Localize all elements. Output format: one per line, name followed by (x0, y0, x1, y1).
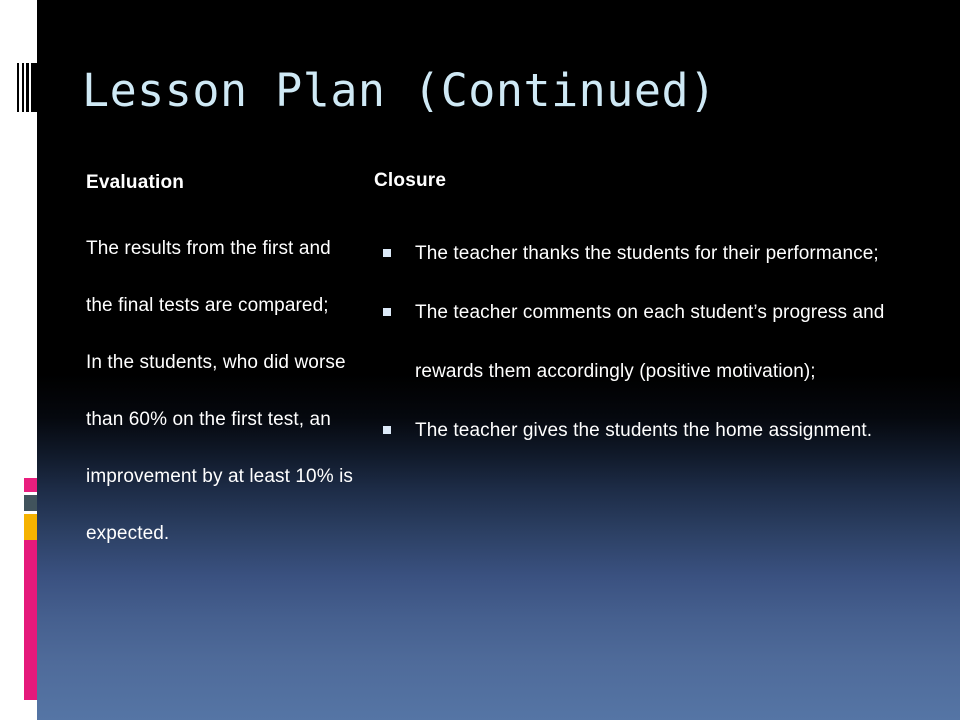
list-item: The teacher gives the students the home … (374, 401, 934, 460)
list-item: The teacher thanks the students for thei… (374, 224, 934, 283)
slide-title: Lesson Plan (Continued) (82, 62, 902, 120)
chip-slate (24, 495, 37, 511)
closure-bullet-1: The teacher thanks the students for thei… (415, 243, 879, 264)
square-bullet-icon (383, 249, 391, 257)
decorative-magenta-bar (24, 540, 37, 700)
closure-heading: Closure (374, 170, 934, 192)
closure-bullet-3: The teacher gives the students the home … (415, 420, 872, 441)
evaluation-heading: Evaluation (86, 172, 358, 194)
left-content-column: Evaluation The results from the first an… (86, 172, 358, 562)
closure-bullet-2: The teacher comments on each student’s p… (415, 302, 884, 382)
list-item: The teacher comments on each student’s p… (374, 283, 934, 401)
evaluation-paragraph-2: In the students, who did worse than 60% … (86, 334, 358, 562)
chip-magenta-small (24, 478, 37, 492)
square-bullet-icon (383, 308, 391, 316)
square-bullet-icon (383, 426, 391, 434)
right-content-column: Closure The teacher thanks the students … (374, 170, 934, 460)
stripe-bar (31, 63, 38, 112)
evaluation-paragraph-1: The results from the first and the final… (86, 220, 358, 334)
decorative-stripes-graphic (17, 63, 38, 112)
decorative-color-chips (24, 478, 37, 543)
presentation-slide: Lesson Plan (Continued) Evaluation The r… (0, 0, 960, 720)
chip-gold (24, 514, 37, 540)
